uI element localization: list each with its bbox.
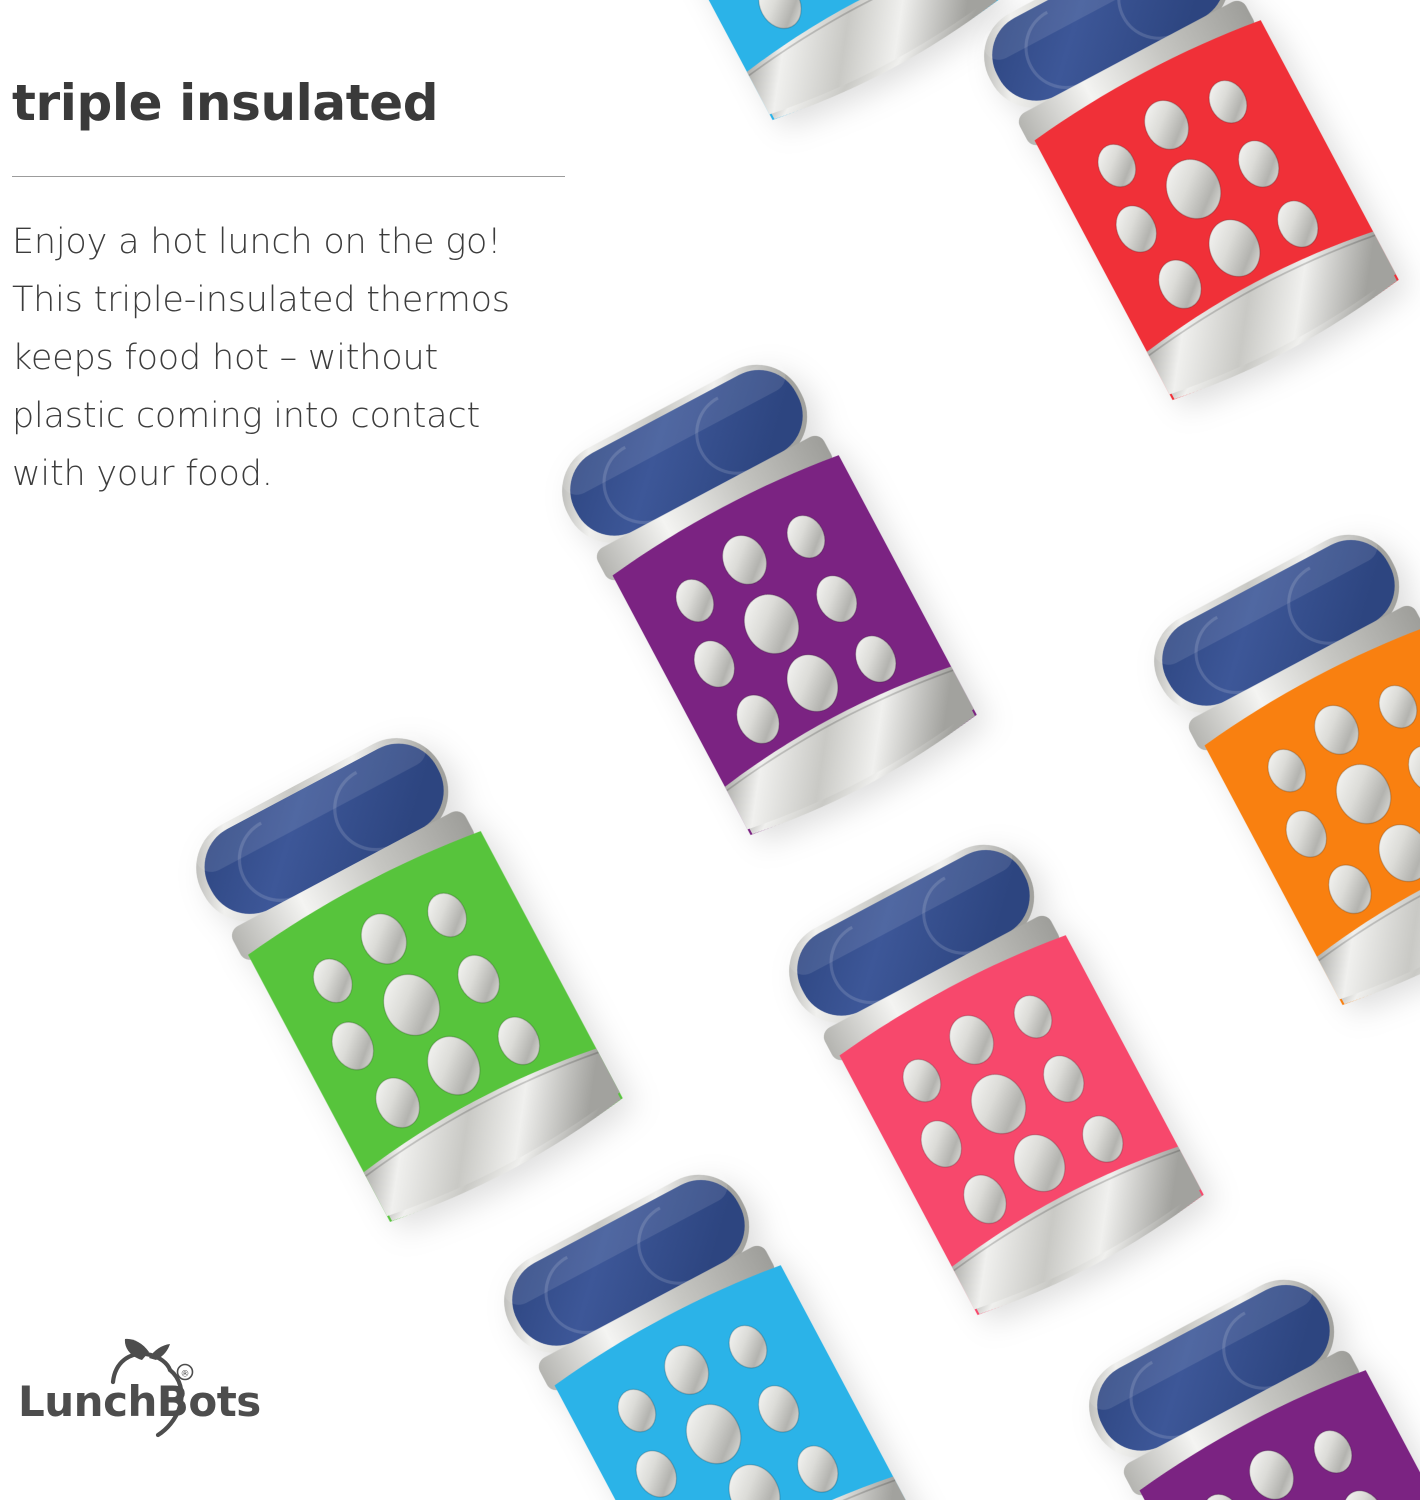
brand-logo: LunchBots ® [18,1330,233,1450]
product-marketing-image: triple insulated Enjoy a hot lunch on th… [0,0,1420,1500]
thermos-red [947,0,1420,429]
thermos-pink [752,806,1237,1343]
svg-text:®: ® [181,1370,190,1380]
thermos-body [1052,1241,1420,1500]
body-line: Enjoy a hot lunch on the go! [12,213,612,271]
body-line: with your food. [12,445,612,503]
thermos-body [1117,496,1420,1033]
thermos-body [547,0,1032,149]
registered-trademark-icon: ® [178,1365,193,1380]
body-line: keeps food hot – without [12,329,612,387]
thermos-body [158,699,657,1252]
thermos-green [158,699,657,1252]
thermos-purple [1052,1241,1420,1500]
copy-block: triple insulated Enjoy a hot lunch on th… [12,78,612,503]
logo-wordmark: LunchBots [18,1377,261,1426]
body-line: plastic coming into contact [12,387,612,445]
thermos-orange [1117,496,1420,1033]
body-line: This triple-insulated thermos [12,271,612,329]
thermos-body [947,0,1420,429]
page-title: triple insulated [12,78,612,128]
body-copy: Enjoy a hot lunch on the go! This triple… [12,213,612,503]
divider-rule [12,176,565,177]
thermos-cyan [547,0,1032,149]
thermos-body [752,806,1237,1343]
